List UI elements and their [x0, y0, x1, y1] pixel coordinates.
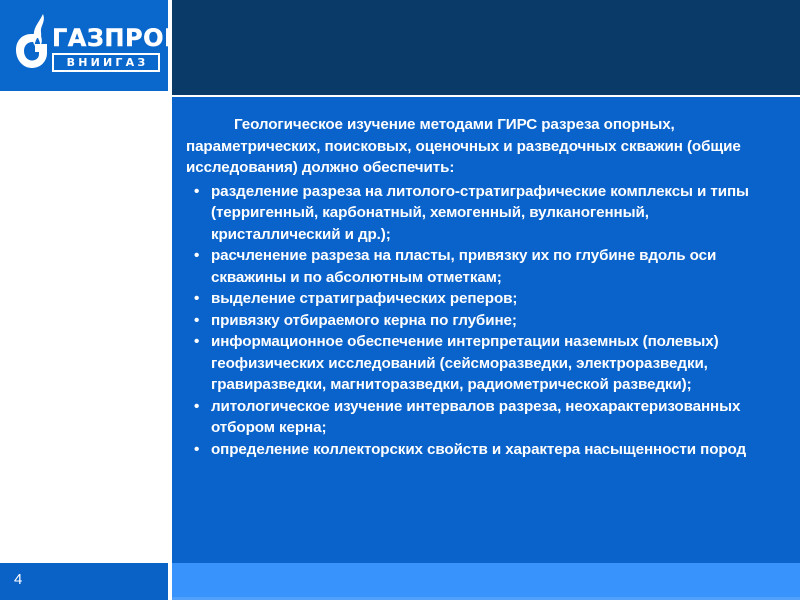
left-sidebar-blank [0, 91, 168, 563]
list-item: •привязку отбираемого керна по глубине; [190, 310, 782, 332]
footer-right-bar [172, 563, 800, 600]
logo-word-gazprom: ГАЗПРОМ [52, 25, 162, 51]
logo-panel: ГАЗПРОМ ВНИИГАЗ [0, 0, 168, 91]
list-item: •определение коллекторских свойств и хар… [190, 439, 782, 461]
gazprom-wordmark: ГАЗПРОМ ВНИИГАЗ [52, 25, 162, 72]
list-item-text: разделение разреза на литолого-стратигра… [211, 183, 749, 243]
header-band [172, 0, 800, 95]
slide-number: 4 [14, 571, 22, 589]
list-item-text: информационное обеспечение интерпретации… [211, 333, 719, 393]
bullet-icon: • [194, 331, 204, 353]
bullet-icon: • [194, 288, 204, 310]
list-item: •информационное обеспечение интерпретаци… [190, 331, 782, 396]
list-item-text: литологическое изучение интервалов разре… [211, 398, 740, 437]
bullet-list: •разделение разреза на литолого-стратигр… [186, 181, 782, 461]
list-item: •расчленение разреза на пласты, привязку… [190, 245, 782, 288]
bullet-icon: • [194, 245, 204, 267]
footer-left-bar: 4 [0, 563, 168, 600]
bullet-icon: • [194, 439, 204, 461]
logo-word-vniigaz: ВНИИГАЗ [52, 53, 160, 72]
list-item: •разделение разреза на литолого-стратигр… [190, 181, 782, 246]
gazprom-flame-icon [13, 12, 57, 72]
bullet-icon: • [194, 310, 204, 332]
content-panel: Геологическое изучение методами ГИРС раз… [172, 97, 800, 563]
list-item-text: выделение стратиграфических реперов; [211, 290, 517, 307]
bullet-icon: • [194, 181, 204, 203]
list-item-text: определение коллекторских свойств и хара… [211, 441, 746, 458]
list-item: •выделение стратиграфических реперов; [190, 288, 782, 310]
presentation-slide: ГАЗПРОМ ВНИИГАЗ Геологическое изучение м… [0, 0, 800, 600]
content-body: Геологическое изучение методами ГИРС раз… [172, 97, 800, 460]
list-item: •литологическое изучение интервалов разр… [190, 396, 782, 439]
intro-paragraph: Геологическое изучение методами ГИРС раз… [186, 114, 782, 179]
bullet-icon: • [194, 396, 204, 418]
list-item-text: привязку отбираемого керна по глубине; [211, 312, 517, 329]
list-item-text: расчленение разреза на пласты, привязку … [211, 247, 716, 286]
